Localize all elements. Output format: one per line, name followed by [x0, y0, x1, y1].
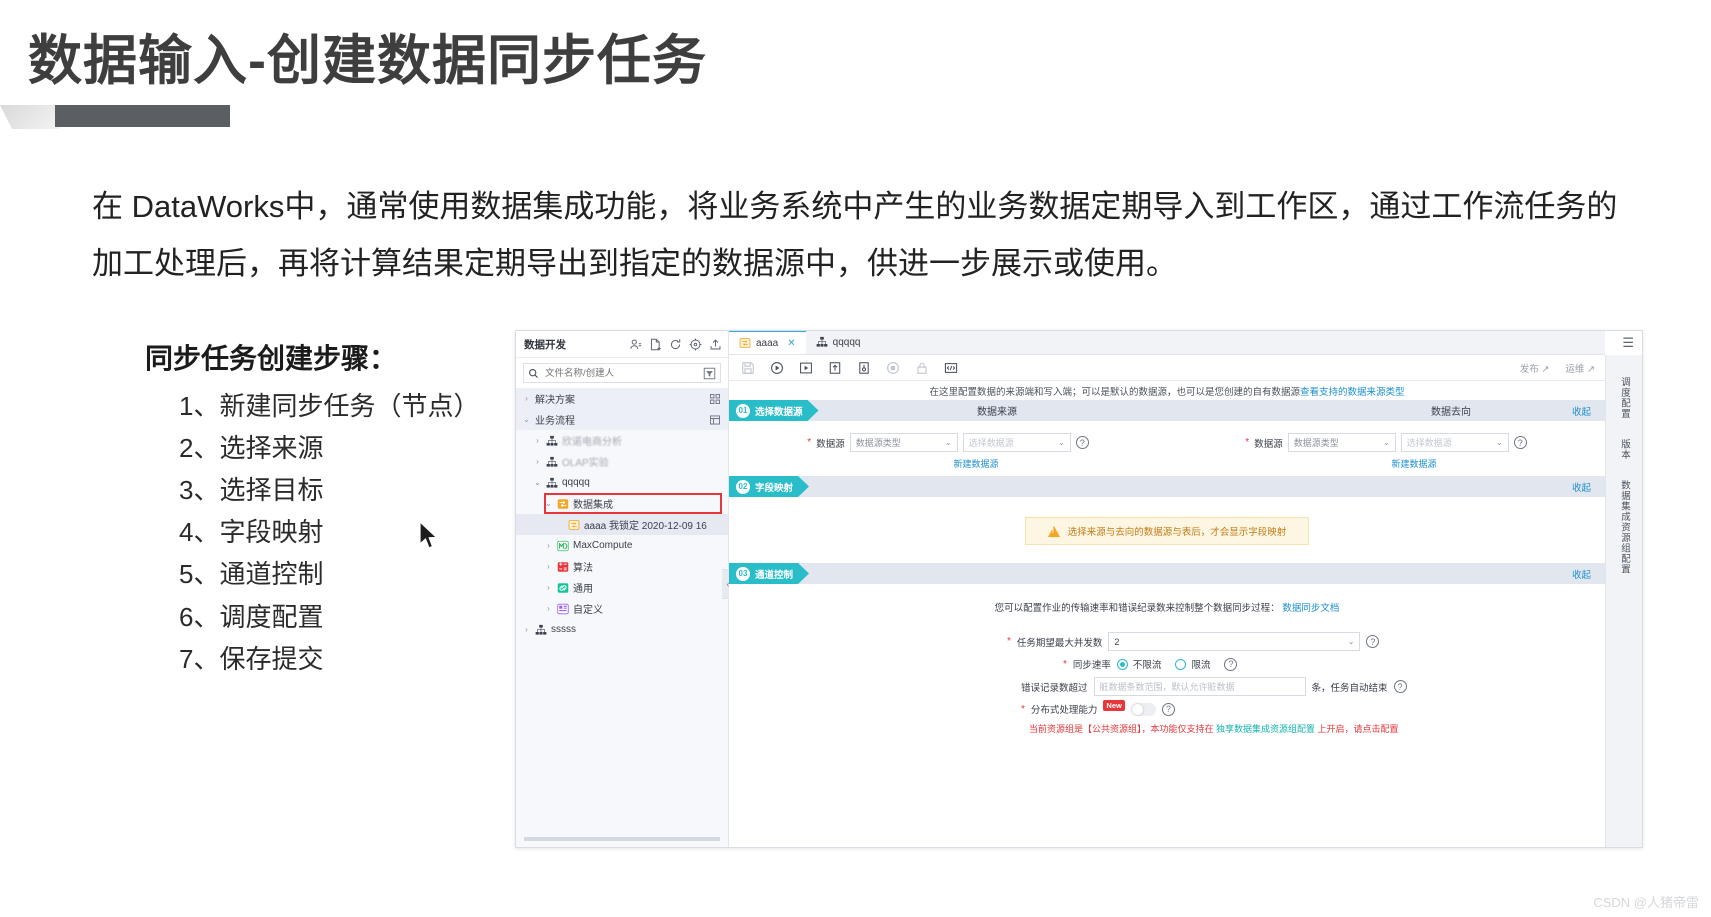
chevron-right-icon[interactable]: › — [544, 583, 553, 592]
publish-link[interactable]: 发布 ↗ — [1520, 361, 1550, 375]
field-mapping-warning-text: 选择来源与去向的数据源与表后，才会显示字段映射 — [1068, 524, 1287, 538]
target-datasource-label: 数据源 — [1254, 436, 1283, 450]
tree-item-label: aaaa 我锁定 2020-12-09 16 — [584, 517, 707, 532]
custom-icon — [557, 603, 569, 615]
channel-description-text: 您可以配置作业的传输速率和错误纪录数来控制整个数据同步过程： — [995, 603, 1280, 614]
target-name-value: 选择数据源 — [1407, 436, 1452, 449]
general-icon — [557, 582, 569, 594]
section-03-header: 03 通道控制 收起 — [729, 563, 1605, 584]
tree-item-label: 数据集成 — [573, 496, 613, 511]
search-input[interactable] — [543, 367, 699, 380]
section-01-tag: 01 选择数据源 — [729, 400, 819, 421]
field-mapping-warning: 选择来源与去向的数据源与表后，才会显示字段映射 — [1025, 517, 1310, 545]
source-help-icon[interactable]: ? — [1076, 436, 1089, 449]
section-01-header: 01 选择数据源 数据来源 数据去向 收起 — [729, 400, 1605, 421]
submit-icon[interactable] — [828, 361, 842, 375]
source-name-value: 选择数据源 — [969, 436, 1014, 449]
target-column-title: 数据去向 — [1431, 400, 1471, 421]
tree-item-label: 解决方案 — [535, 391, 575, 406]
resource-note-part1: 当前资源组是【公共资源组】，本功能仅支持在 — [1029, 724, 1216, 734]
grid-view-icon[interactable] — [709, 393, 721, 405]
concurrency-help-icon[interactable]: ? — [1366, 635, 1379, 648]
chevron-down-icon: ⌄ — [1383, 438, 1390, 447]
search-box[interactable] — [523, 363, 721, 383]
supported-source-types-link[interactable]: 查看支持的数据来源类型 — [1300, 384, 1405, 398]
sync-rate-row: * 同步速率 不限流 限流 ? — [729, 657, 1605, 671]
tree-item-label: 自定义 — [573, 601, 603, 616]
target-type-value: 数据源类型 — [1294, 436, 1339, 449]
lock-icon[interactable] — [915, 361, 929, 375]
section-03-label: 通道控制 — [755, 567, 793, 581]
title-underline-tail — [0, 105, 60, 129]
refresh-icon[interactable] — [669, 338, 682, 351]
section-02-header: 02 字段映射 收起 — [729, 476, 1605, 497]
datasource-form: * 数据源 数据源类型 ⌄ 选择数据源 ⌄ ? 新建数据源 — [729, 421, 1605, 476]
step-item: 2、选择来源 — [145, 427, 479, 469]
dataworks-main-area: aaaa✕qqqqq — [729, 331, 1605, 847]
editor-body: 在这里配置数据的来源端和写入端；可以是默认的数据源，也可以是您创建的自有数据源查… — [729, 381, 1605, 847]
chevron-right-icon[interactable]: › — [544, 541, 553, 550]
source-name-select[interactable]: 选择数据源 ⌄ — [963, 433, 1071, 452]
steps-block: 同步任务创建步骤： 1、新建同步任务（节点）2、选择来源3、选择目标4、字段映射… — [145, 337, 479, 680]
upload-icon[interactable] — [709, 338, 722, 351]
step-item: 6、调度配置 — [145, 596, 479, 638]
run-icon[interactable] — [770, 361, 784, 375]
target-required-star: * — [1245, 437, 1249, 448]
editor-tab-label: aaaa — [756, 338, 778, 349]
error-record-row: 错误记录数超过 脏数据条数范围，默认允许脏数据 条，任务自动结束 ? — [729, 677, 1605, 696]
error-record-input[interactable]: 脏数据条数范围，默认允许脏数据 — [1094, 677, 1306, 696]
resource-note-part2: 上开启，请点击配置 — [1315, 724, 1399, 734]
target-new-datasource-link[interactable]: 新建数据源 — [1391, 457, 1436, 470]
flow-icon — [546, 477, 558, 489]
watermark: CSDN @人猪帝雷 — [1593, 892, 1699, 911]
editor-tab-label: qqqqq — [833, 337, 861, 348]
chevron-right-icon[interactable]: › — [522, 625, 531, 634]
di-node-icon — [739, 337, 751, 349]
step-item: 1、新建同步任务（节点） — [145, 385, 479, 427]
page-title: 数据输入-创建数据同步任务 — [28, 16, 707, 95]
chevron-down-icon: ⌄ — [1348, 637, 1355, 646]
radio-limited-icon — [1175, 659, 1186, 670]
tree-item-自定义[interactable]: ›自定义 — [516, 598, 728, 619]
datasource-source-column: * 数据源 数据源类型 ⌄ 选择数据源 ⌄ ? 新建数据源 — [729, 433, 1167, 470]
tree-item-qqqqq[interactable]: ⌄qqqqq — [516, 472, 728, 493]
datasource-target-column: * 数据源 数据源类型 ⌄ 选择数据源 ⌄ ? 新建数据源 — [1167, 433, 1605, 470]
intro-paragraph: 在 DataWorks中，通常使用数据集成功能，将业务系统中产生的业务数据定期导… — [92, 178, 1622, 293]
stop-run-icon[interactable] — [857, 361, 871, 375]
distributed-label: 分布式处理能力 — [1031, 702, 1098, 716]
section-02-tag: 02 字段映射 — [729, 476, 809, 497]
section-02-collapse-link[interactable]: 收起 — [1572, 480, 1605, 494]
tree-item-label: 通用 — [573, 580, 593, 595]
error-record-suffix: 条，任务自动结束 — [1312, 680, 1388, 694]
concurrency-label: 任务期望最大并发数 — [1017, 635, 1103, 649]
right-rail-item[interactable]: 数据集成资源组配置 — [1617, 480, 1631, 575]
project-tree: ›解决方案⌄业务流程›欣诺电商分析›OLAP实验⌄qqqqq⌄数据集成›aaaa… — [516, 388, 728, 640]
field-mapping-warning-wrap: 选择来源与去向的数据源与表后，才会显示字段映射 — [729, 497, 1605, 563]
section-01-collapse-link[interactable]: 收起 — [1572, 404, 1605, 418]
chevron-down-icon: ⌄ — [1496, 438, 1503, 447]
editor-tab-qqqqq[interactable]: qqqqq — [806, 330, 871, 354]
tree-item-业务流程[interactable]: ⌄业务流程 — [516, 409, 728, 430]
run-step-icon[interactable] — [799, 361, 813, 375]
distributed-row: * 分布式处理能力 New ? — [729, 702, 1605, 716]
source-datasource-row: * 数据源 数据源类型 ⌄ 选择数据源 ⌄ ? — [807, 433, 1088, 452]
source-column-title: 数据来源 — [977, 400, 1017, 421]
dataworks-left-panel: 数据开发 — [516, 331, 729, 847]
chevron-down-icon[interactable]: ⌄ — [522, 415, 531, 424]
editor-toolbar: 发布 ↗ 运维 ↗ — [729, 355, 1605, 381]
title-underline-bar — [55, 105, 230, 127]
section-02-number: 02 — [736, 480, 750, 494]
step-item: 7、保存提交 — [145, 638, 479, 680]
section-02-label: 字段映射 — [755, 480, 793, 494]
target-datasource-row: * 数据源 数据源类型 ⌄ 选择数据源 ⌄ ? — [1245, 433, 1526, 452]
di-node-icon — [568, 519, 580, 531]
toolbar-right-actions: 发布 ↗ 运维 ↗ — [1520, 361, 1605, 375]
code-icon[interactable] — [944, 361, 958, 375]
tree-item-label: sssss — [551, 624, 576, 635]
chevron-right-icon[interactable]: › — [522, 394, 531, 403]
tree-item-label: MaxCompute — [573, 540, 632, 551]
chevron-down-icon[interactable]: ⌄ — [533, 478, 542, 487]
left-panel-header: 数据开发 — [516, 331, 728, 358]
distributed-toggle[interactable] — [1131, 703, 1156, 716]
resource-group-config-link[interactable]: 独享数据集成资源组配置 — [1216, 724, 1315, 734]
error-record-label: 错误记录数超过 — [1021, 680, 1088, 694]
right-rail-item[interactable]: 调度配置 — [1617, 377, 1631, 419]
source-type-value: 数据源类型 — [856, 436, 901, 449]
distributed-help-icon[interactable]: ? — [1162, 703, 1175, 716]
tree-item-算法[interactable]: ›算法 — [516, 556, 728, 577]
close-icon[interactable]: ✕ — [787, 338, 795, 349]
editor-tabbar: aaaa✕qqqqq — [729, 331, 1605, 355]
rate-help-icon[interactable]: ? — [1224, 658, 1237, 671]
di-icon — [557, 498, 569, 510]
flow-icon — [546, 435, 558, 447]
source-required-star: * — [807, 437, 811, 448]
list-view-icon[interactable] — [709, 414, 721, 426]
hamburger-menu-icon[interactable]: ☰ — [1622, 335, 1634, 351]
resource-group-note: 当前资源组是【公共资源组】，本功能仅支持在 独享数据集成资源组配置 上开启，请点… — [729, 722, 1605, 735]
tree-item-label: 业务流程 — [535, 412, 575, 427]
steps-heading: 同步任务创建步骤： — [145, 337, 479, 377]
concurrency-required-star: * — [1007, 636, 1011, 647]
ops-link[interactable]: 运维 ↗ — [1565, 361, 1595, 375]
target-icon[interactable] — [689, 338, 702, 351]
filter-icon[interactable] — [703, 367, 716, 380]
rate-required-star: * — [1063, 659, 1067, 670]
tree-item-label: 算法 — [573, 559, 593, 574]
left-panel-header-icons — [629, 338, 722, 351]
config-hint-text: 在这里配置数据的来源端和写入端；可以是默认的数据源，也可以是您创建的自有数据源 — [929, 384, 1300, 398]
tree-item-MaxCompute[interactable]: ›MaxCompute — [516, 535, 728, 556]
new-file-icon[interactable] — [649, 338, 662, 351]
chevron-right-icon[interactable]: › — [533, 436, 542, 445]
rate-limited-label: 限流 — [1191, 657, 1210, 671]
section-03-number: 03 — [736, 567, 750, 581]
section-03-tag: 03 通道控制 — [729, 563, 809, 584]
left-panel-scrollbar[interactable] — [524, 837, 720, 841]
tree-item-label: OLAP实验 — [562, 454, 609, 469]
radio-unlimited-icon — [1117, 659, 1128, 670]
tree-item-aaaa我锁定2020120[interactable]: ›aaaa 我锁定 2020-12-09 16 — [516, 514, 728, 535]
rate-option-limited[interactable]: 限流 — [1175, 657, 1210, 671]
section-03-collapse-link[interactable]: 收起 — [1572, 567, 1605, 581]
distributed-required-star: * — [1021, 704, 1025, 715]
chevron-down-icon: ⌄ — [1058, 438, 1065, 447]
rate-label: 同步速率 — [1073, 657, 1111, 671]
flow-icon — [546, 456, 558, 468]
tree-item-通用[interactable]: ›通用 — [516, 577, 728, 598]
search-row — [516, 358, 728, 388]
tree-item-解决方案[interactable]: ›解决方案 — [516, 388, 728, 409]
flow-icon — [535, 624, 547, 636]
chevron-right-icon[interactable]: › — [544, 562, 553, 571]
flow-icon — [816, 336, 828, 348]
warning-triangle-icon — [1048, 526, 1060, 537]
mc-icon — [557, 540, 569, 552]
algo-icon — [557, 561, 569, 573]
right-rail-item[interactable]: 版本 — [1617, 439, 1631, 460]
tree-item-sssss[interactable]: ›sssss — [516, 619, 728, 640]
target-name-select[interactable]: 选择数据源 ⌄ — [1401, 433, 1509, 452]
mouse-cursor-icon — [418, 521, 440, 551]
save-icon[interactable] — [741, 361, 755, 375]
source-datasource-label: 数据源 — [816, 436, 845, 450]
step-item: 5、通道控制 — [145, 553, 479, 595]
concurrency-select[interactable]: 2 ⌄ — [1108, 632, 1360, 651]
dataworks-screenshot: 数据开发 — [515, 330, 1643, 848]
chevron-down-icon: ⌄ — [945, 438, 952, 447]
error-record-value: 脏数据条数范围，默认允许脏数据 — [1100, 680, 1235, 693]
source-type-select[interactable]: 数据源类型 ⌄ — [850, 433, 958, 452]
tree-item-数据集成[interactable]: ⌄数据集成 — [516, 493, 728, 514]
target-help-icon[interactable]: ? — [1514, 436, 1527, 449]
user-icon[interactable] — [629, 338, 642, 351]
chevron-right-icon[interactable]: › — [533, 457, 542, 466]
config-hint-row: 在这里配置数据的来源端和写入端；可以是默认的数据源，也可以是您创建的自有数据源查… — [729, 381, 1605, 400]
tree-item-label: qqqqq — [562, 477, 590, 488]
chevron-down-icon[interactable]: ⌄ — [544, 499, 553, 508]
section-01-label: 选择数据源 — [755, 404, 803, 418]
target-type-select[interactable]: 数据源类型 ⌄ — [1288, 433, 1396, 452]
chevron-right-icon[interactable]: › — [544, 604, 553, 613]
right-rail: 调度配置版本数据集成资源组配置 — [1605, 355, 1642, 847]
rate-unlimited-label: 不限流 — [1133, 657, 1162, 671]
tree-item-OLAP实验[interactable]: ›OLAP实验 — [516, 451, 728, 472]
new-badge: New — [1103, 700, 1124, 711]
title-underline-decoration — [0, 105, 240, 129]
section-01-number: 01 — [736, 404, 750, 418]
concurrency-row: * 任务期望最大并发数 2 ⌄ ? — [729, 632, 1605, 651]
tree-item-label: 欣诺电商分析 — [562, 433, 622, 448]
error-record-help-icon[interactable]: ? — [1394, 680, 1407, 693]
stop-icon[interactable] — [886, 361, 900, 375]
channel-description: 您可以配置作业的传输速率和错误纪录数来控制整个数据同步过程： 数据同步文档 — [729, 584, 1605, 626]
sync-doc-link[interactable]: 数据同步文档 — [1282, 603, 1339, 614]
left-panel-title: 数据开发 — [524, 337, 566, 352]
rate-option-unlimited[interactable]: 不限流 — [1117, 657, 1162, 671]
step-item: 3、选择目标 — [145, 469, 479, 511]
search-icon — [528, 368, 539, 379]
source-new-datasource-link[interactable]: 新建数据源 — [953, 457, 998, 470]
editor-tab-aaaa[interactable]: aaaa✕ — [729, 330, 806, 354]
concurrency-value: 2 — [1114, 637, 1119, 647]
highlight-box-data-integration — [544, 493, 722, 514]
tree-item-欣诺电商分析[interactable]: ›欣诺电商分析 — [516, 430, 728, 451]
